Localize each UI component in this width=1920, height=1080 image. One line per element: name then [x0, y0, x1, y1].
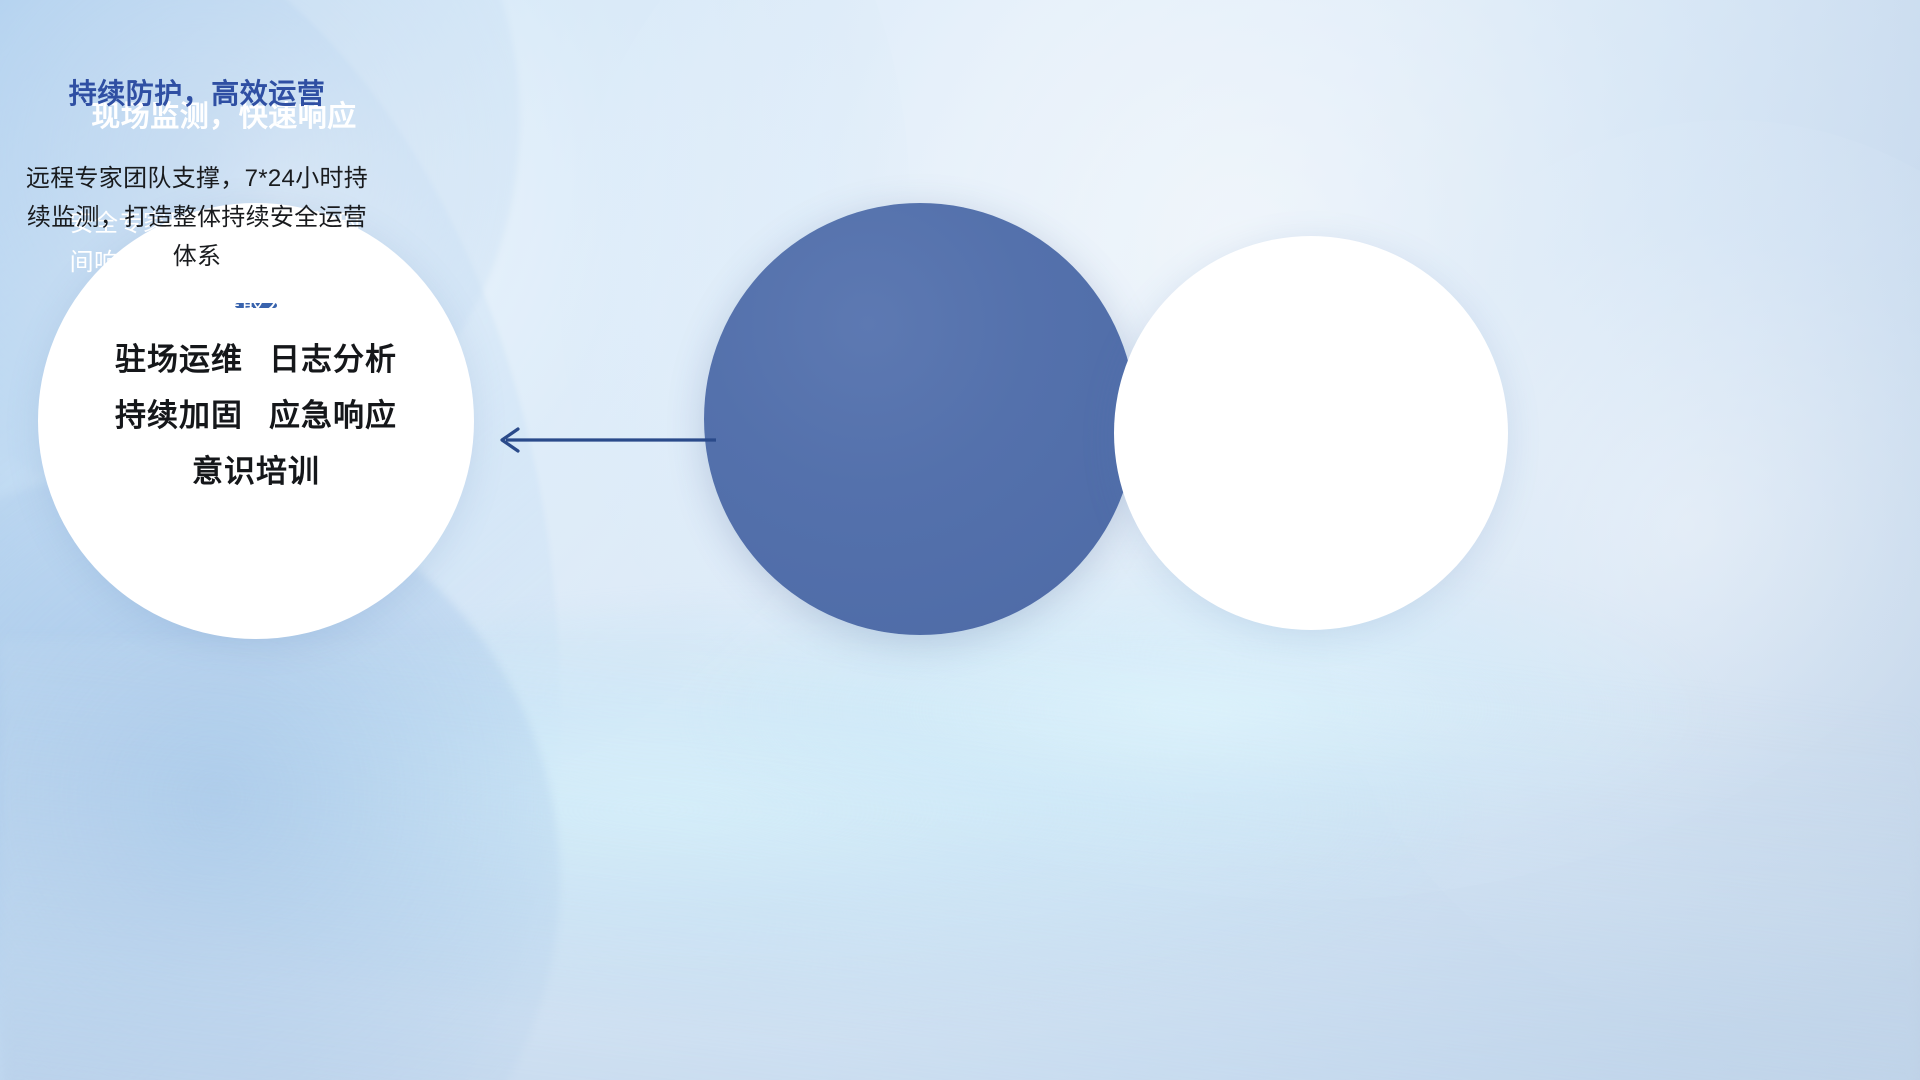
- flow-arrow: [488, 418, 718, 462]
- continuous-protection-title: 持续防护，高效运营: [22, 72, 372, 112]
- capabilities-row-1: 驻场运维日志分析: [115, 344, 397, 375]
- continuous-protection-body: 远程专家团队支撑，7*24小时持续监测，打造整体持续安全运营体系: [18, 160, 376, 277]
- capability-label-hardening: 持续加固: [115, 398, 243, 433]
- slide-canvas: 驻场运维日志分析 持续加固应急响应 意识培训 现场监测，快速响应 安全专家现场保…: [0, 0, 1920, 1080]
- continuous-protection-circle: [1114, 236, 1508, 630]
- capability-label-awareness-training: 意识培训: [192, 454, 320, 489]
- capability-label-on-site-ops: 驻场运维: [115, 342, 243, 377]
- onsite-monitoring-circle: [704, 203, 1136, 635]
- arrow-left-icon: [488, 418, 718, 462]
- capabilities-row-3: 意识培训: [192, 456, 320, 487]
- capabilities-list: 驻场运维日志分析 持续加固应急响应 意识培训: [115, 344, 397, 487]
- capability-label-incident-response: 应急响应: [269, 398, 397, 433]
- capabilities-row-2: 持续加固应急响应: [115, 400, 397, 431]
- background-bottom-wash: [0, 640, 1920, 1080]
- capability-label-log-analysis: 日志分析: [269, 342, 397, 377]
